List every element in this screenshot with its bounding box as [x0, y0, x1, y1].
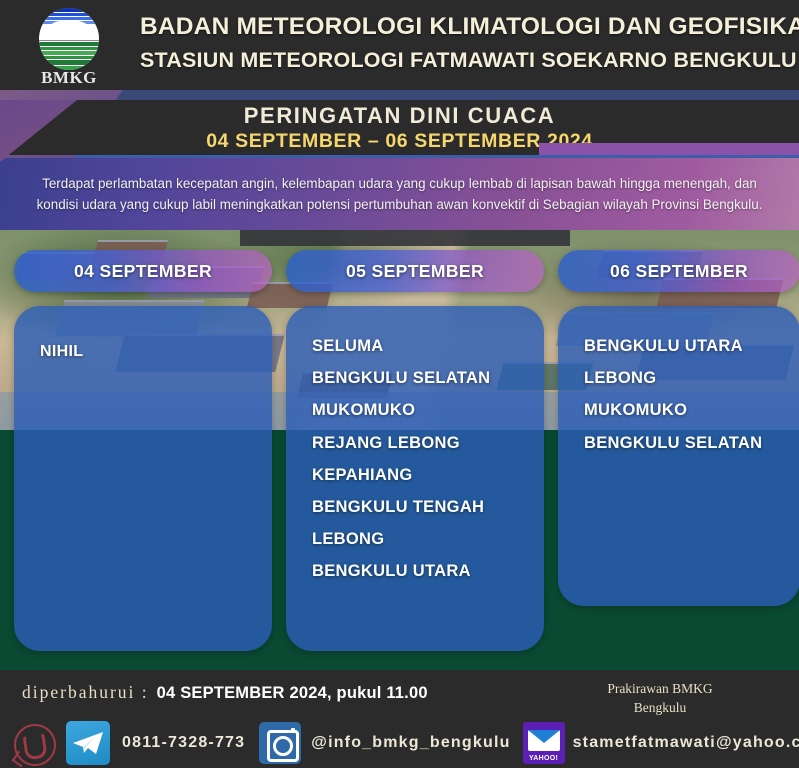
region-panel-1: NIHIL: [14, 306, 272, 651]
contact-whatsapp[interactable]: [0, 720, 56, 766]
forecast-column-2: 05 SEPTEMBER SELUMA BENGKULU SELATAN MUK…: [286, 250, 544, 651]
forecast-column-1: 04 SEPTEMBER NIHIL: [14, 250, 272, 651]
contact-bar: 0811-7328-773 @info_bmkg_bengkulu YAHOO!…: [0, 718, 799, 768]
warning-purple-right: [539, 143, 799, 155]
forecast-column-3: 06 SEPTEMBER BENGKULU UTARA LEBONG MUKOM…: [558, 250, 799, 606]
telegram-icon[interactable]: [66, 721, 110, 765]
contact-telegram[interactable]: 0811-7328-773: [56, 721, 245, 765]
region-item: BENGKULU SELATAN: [584, 427, 799, 459]
date-pill-1[interactable]: 04 SEPTEMBER: [14, 250, 272, 292]
whatsapp-icon[interactable]: [10, 720, 56, 766]
region-item: BENGKULU TENGAH: [312, 491, 544, 523]
yahoo-mail-icon[interactable]: YAHOO!: [523, 722, 565, 764]
date-pill-2-label: 05 SEPTEMBER: [346, 261, 484, 282]
agency-title: BADAN METEOROLOGI KLIMATOLOGI DAN GEOFIS…: [140, 10, 788, 44]
date-pill-3-label: 06 SEPTEMBER: [610, 261, 748, 282]
forecaster-line-1: Prakirawan BMKG: [575, 679, 745, 698]
region-item: NIHIL: [40, 336, 272, 368]
region-item: REJANG LEBONG: [312, 427, 544, 459]
contact-instagram[interactable]: @info_bmkg_bengkulu: [245, 722, 510, 764]
region-item: MUKOMUKO: [312, 394, 544, 426]
region-item: LEBONG: [584, 362, 799, 394]
description-strip: Terdapat perlambatan kecepatan angin, ke…: [0, 158, 799, 230]
updated-value: 04 SEPTEMBER 2024, pukul 11.00: [157, 684, 428, 703]
warning-date-range: 04 SEPTEMBER – 06 SEPTEMBER 2024: [206, 129, 593, 153]
region-item: LEBONG: [312, 523, 544, 555]
instagram-icon[interactable]: [259, 722, 301, 764]
instagram-handle: @info_bmkg_bengkulu: [311, 734, 510, 752]
updated-label: diperbahurui :: [22, 682, 149, 703]
forecaster-line-2: Bengkulu: [575, 698, 745, 717]
station-title: STASIUN METEOROLOGI FATMAWATI SOEKARNO B…: [140, 44, 788, 76]
bmkg-logo-icon: BMKG: [33, 8, 105, 90]
warning-title: PERINGATAN DINI CUACA: [244, 103, 555, 129]
region-item: BENGKULU UTARA: [584, 330, 799, 362]
updated-block: diperbahurui : 04 SEPTEMBER 2024, pukul …: [22, 682, 428, 703]
bmkg-logo-text: BMKG: [33, 68, 105, 88]
forecaster-credit: Prakirawan BMKG Bengkulu: [575, 679, 745, 717]
date-pill-2[interactable]: 05 SEPTEMBER: [286, 250, 544, 292]
region-item: BENGKULU UTARA: [312, 555, 544, 587]
region-item: KEPAHIANG: [312, 459, 544, 491]
telegram-number: 0811-7328-773: [122, 734, 245, 752]
email-address: stametfatmawati@yahoo.com: [573, 734, 799, 752]
forecast-columns: 04 SEPTEMBER NIHIL 05 SEPTEMBER SELUMA B…: [0, 250, 799, 670]
poster-root: BMKG BADAN METEOROLOGI KLIMATOLOGI DAN G…: [0, 0, 799, 768]
description-text: Terdapat perlambatan kecepatan angin, ke…: [0, 173, 799, 215]
region-item: BENGKULU SELATAN: [312, 362, 544, 394]
date-pill-3[interactable]: 06 SEPTEMBER: [558, 250, 799, 292]
region-item: MUKOMUKO: [584, 394, 799, 426]
header-titles: BADAN METEOROLOGI KLIMATOLOGI DAN GEOFIS…: [140, 10, 788, 76]
region-panel-3: BENGKULU UTARA LEBONG MUKOMUKO BENGKULU …: [558, 306, 799, 606]
region-item: SELUMA: [312, 330, 544, 362]
region-panel-2: SELUMA BENGKULU SELATAN MUKOMUKO REJANG …: [286, 306, 544, 651]
date-pill-1-label: 04 SEPTEMBER: [74, 261, 212, 282]
contact-email[interactable]: YAHOO! stametfatmawati@yahoo.com: [511, 722, 799, 764]
